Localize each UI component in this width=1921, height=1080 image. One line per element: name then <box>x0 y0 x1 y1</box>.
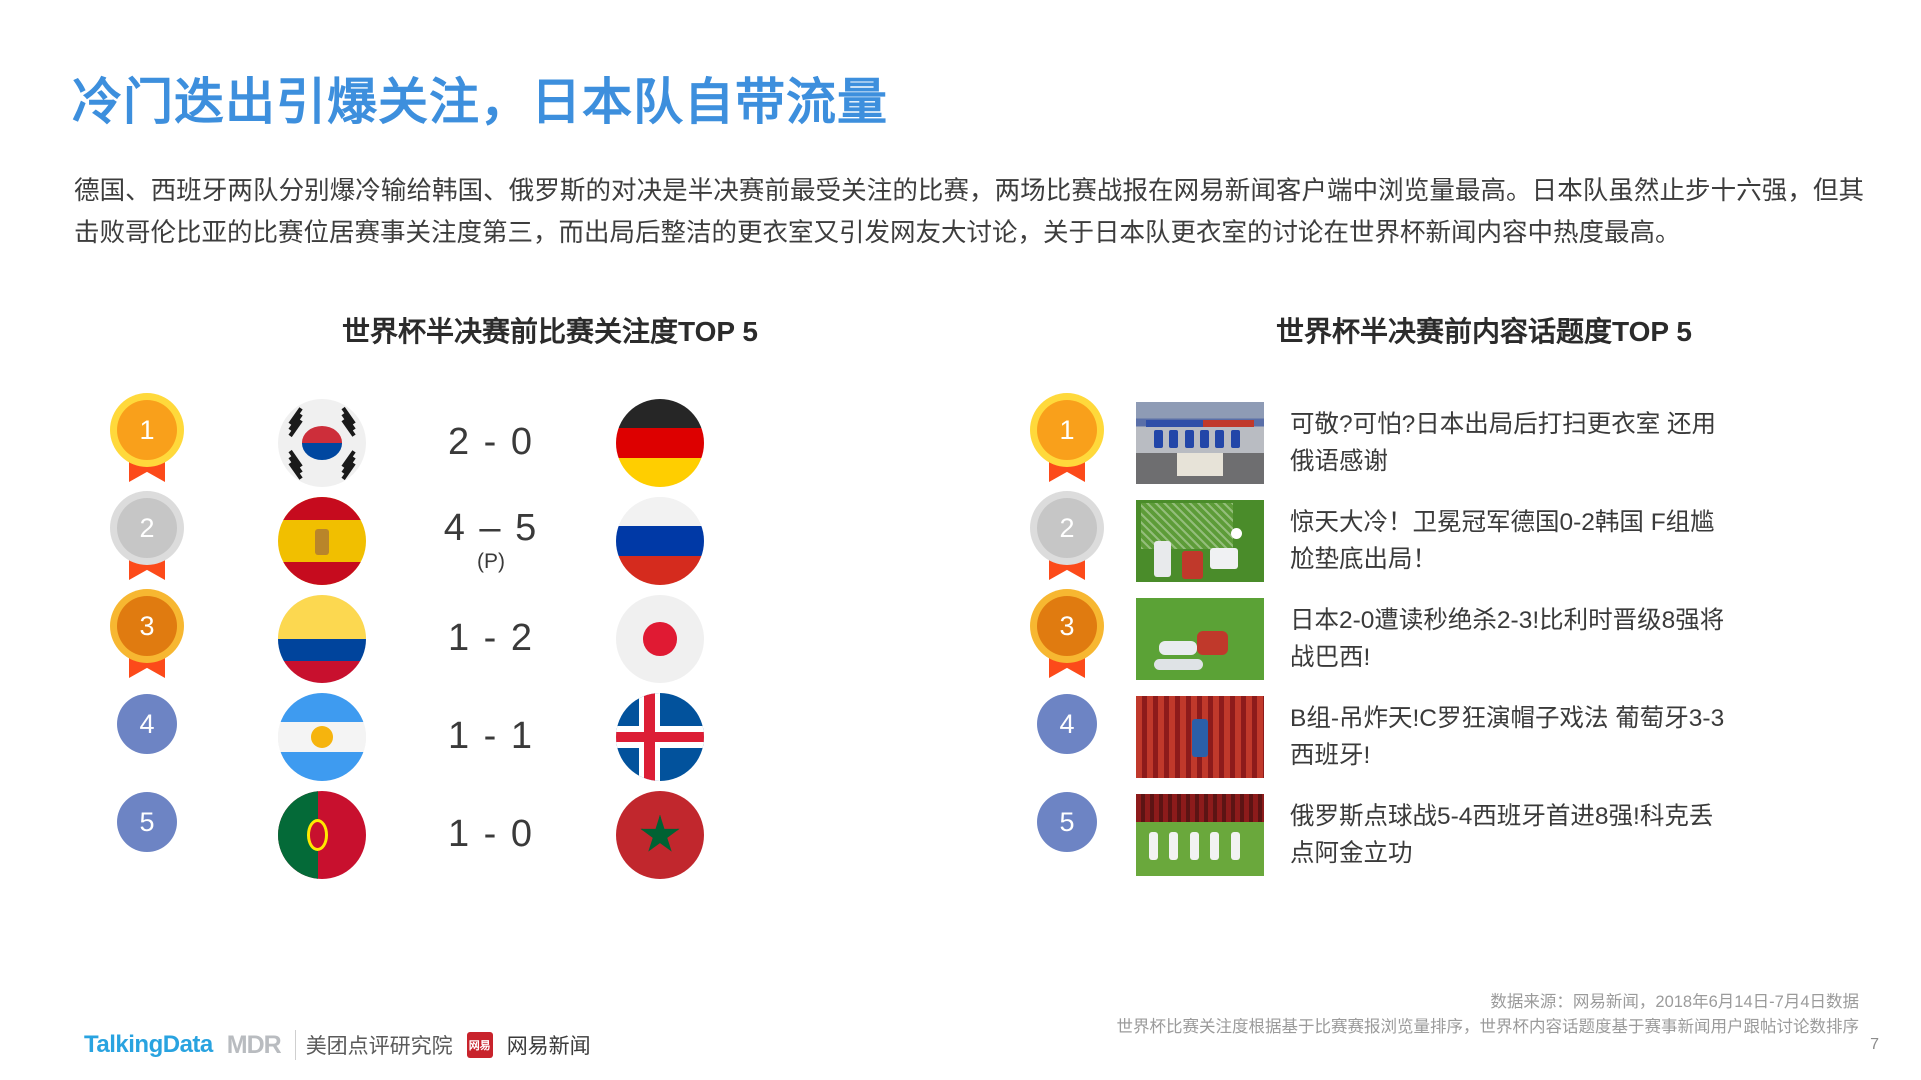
flag-iceland-icon <box>616 693 704 781</box>
rank-number: 4 <box>1037 694 1097 754</box>
match-row[interactable]: 1 <box>110 394 930 492</box>
flag-colombia-icon <box>278 595 366 683</box>
score-value: 1 - 2 <box>448 617 534 659</box>
match-score: 2 - 0 <box>366 423 616 463</box>
rank-number: 5 <box>1037 792 1097 852</box>
topic-title: 俄罗斯点球战5-4西班牙首进8强!科克丢点阿金立功 <box>1290 798 1728 872</box>
match-score: 1 - 1 <box>366 717 616 757</box>
left-panel: 世界杯半决赛前比赛关注度TOP 5 1 <box>110 310 930 884</box>
flag-south-korea-icon <box>278 399 366 487</box>
page-description: 德国、西班牙两队分别爆冷输给韩国、俄罗斯的对决是半决赛前最受关注的比赛，两场比赛… <box>74 170 1864 254</box>
rank-number: 1 <box>1037 400 1097 460</box>
rank-medal-3: 3 <box>1030 596 1104 682</box>
rank-number: 2 <box>1037 498 1097 558</box>
source-line-2: 世界杯比赛关注度根据基于比赛赛报浏览量排序，世界杯内容话题度基于赛事新闻用户跟帖… <box>1117 1015 1860 1040</box>
topic-title: B组-吊炸天!C罗狂演帽子戏法 葡萄牙3-3西班牙! <box>1290 700 1728 774</box>
match-score: 4 – 5 (P) <box>366 509 616 573</box>
right-panel-title: 世界杯半决赛前内容话题度TOP 5 <box>1138 310 1830 350</box>
footer-logos: TalkingData MDR 美团点评研究院 网易 网易新闻 <box>84 1030 591 1060</box>
topic-thumbnail <box>1136 500 1264 582</box>
rank-medal-5: 5 <box>110 792 184 878</box>
topic-row[interactable]: 1 可敬?可怕?日本出局后打扫更衣室 还用俄语感谢 <box>1030 394 1830 492</box>
score-value: 2 - 0 <box>448 421 534 463</box>
rank-number: 2 <box>117 498 177 558</box>
score-value: 1 - 0 <box>448 813 534 855</box>
rank-medal-4: 4 <box>110 694 184 780</box>
topic-thumbnail <box>1136 696 1264 778</box>
topic-row[interactable]: 5 俄罗斯点球战5-4西班牙首进8强!科克丢点阿金立功 <box>1030 786 1830 884</box>
page-number: 7 <box>1870 1036 1879 1054</box>
source-line-1: 数据来源：网易新闻，2018年6月14日-7月4日数据 <box>1117 990 1860 1015</box>
flag-argentina-icon <box>278 693 366 781</box>
meituan-research-logo: 美团点评研究院 <box>295 1030 453 1060</box>
rank-medal-3: 3 <box>110 596 184 682</box>
topic-title: 惊天大冷！卫冕冠军德国0-2韩国 F组尴尬垫底出局！ <box>1290 504 1728 578</box>
match-score: 1 - 2 <box>366 619 616 659</box>
page-title: 冷门迭出引爆关注，日本队自带流量 <box>72 62 888 134</box>
rank-number: 4 <box>117 694 177 754</box>
match-score: 1 - 0 <box>366 815 616 855</box>
topic-thumbnail <box>1136 794 1264 876</box>
netease-news-logo: 网易新闻 <box>507 1030 591 1060</box>
rank-medal-1: 1 <box>1030 400 1104 486</box>
slide-root: 冷门迭出引爆关注，日本队自带流量 德国、西班牙两队分别爆冷输给韩国、俄罗斯的对决… <box>0 0 1921 1080</box>
match-row[interactable]: 4 1 - 1 <box>110 688 930 786</box>
topic-title: 可敬?可怕?日本出局后打扫更衣室 还用俄语感谢 <box>1290 406 1728 480</box>
talkingdata-logo: TalkingData <box>84 1031 213 1059</box>
topic-row[interactable]: 2 惊天大冷！卫冕冠军德国0-2韩国 F组尴尬垫底出局！ <box>1030 492 1830 590</box>
score-value: 1 - 1 <box>448 715 534 757</box>
rank-medal-4: 4 <box>1030 694 1104 780</box>
rank-number: 3 <box>117 596 177 656</box>
flag-russia-icon <box>616 497 704 585</box>
rank-number: 1 <box>117 400 177 460</box>
rank-number: 3 <box>1037 596 1097 656</box>
topic-thumbnail <box>1136 598 1264 680</box>
flag-germany-icon <box>616 399 704 487</box>
flag-japan-icon <box>616 595 704 683</box>
mdr-logo: MDR <box>227 1031 281 1060</box>
score-value: 4 – 5 <box>444 507 539 549</box>
penalty-note: (P) <box>366 551 616 573</box>
rank-medal-5: 5 <box>1030 792 1104 878</box>
rank-medal-2: 2 <box>1030 498 1104 584</box>
left-panel-title: 世界杯半决赛前比赛关注度TOP 5 <box>170 310 930 350</box>
match-row[interactable]: 2 4 – 5 (P) <box>110 492 930 590</box>
topic-row[interactable]: 4 B组-吊炸天!C罗狂演帽子戏法 葡萄牙3-3西班牙! <box>1030 688 1830 786</box>
rank-medal-2: 2 <box>110 498 184 584</box>
topic-title: 日本2-0遭读秒绝杀2-3!比利时晋级8强将战巴西! <box>1290 602 1728 676</box>
match-row[interactable]: 3 1 - 2 <box>110 590 930 688</box>
right-panel: 世界杯半决赛前内容话题度TOP 5 1 可敬?可怕?日本出局后打扫更衣室 还用俄… <box>1030 310 1830 884</box>
flag-portugal-icon <box>278 791 366 879</box>
flag-morocco-icon <box>616 791 704 879</box>
netease-mark-icon: 网易 <box>467 1032 493 1058</box>
rank-number: 5 <box>117 792 177 852</box>
topic-thumbnail <box>1136 402 1264 484</box>
topic-row[interactable]: 3 日本2-0遭读秒绝杀2-3!比利时晋级8强将战巴西! <box>1030 590 1830 688</box>
match-row[interactable]: 5 1 - 0 <box>110 786 930 884</box>
flag-spain-icon <box>278 497 366 585</box>
source-note: 数据来源：网易新闻，2018年6月14日-7月4日数据 世界杯比赛关注度根据基于… <box>1117 990 1860 1040</box>
rank-medal-1: 1 <box>110 400 184 486</box>
